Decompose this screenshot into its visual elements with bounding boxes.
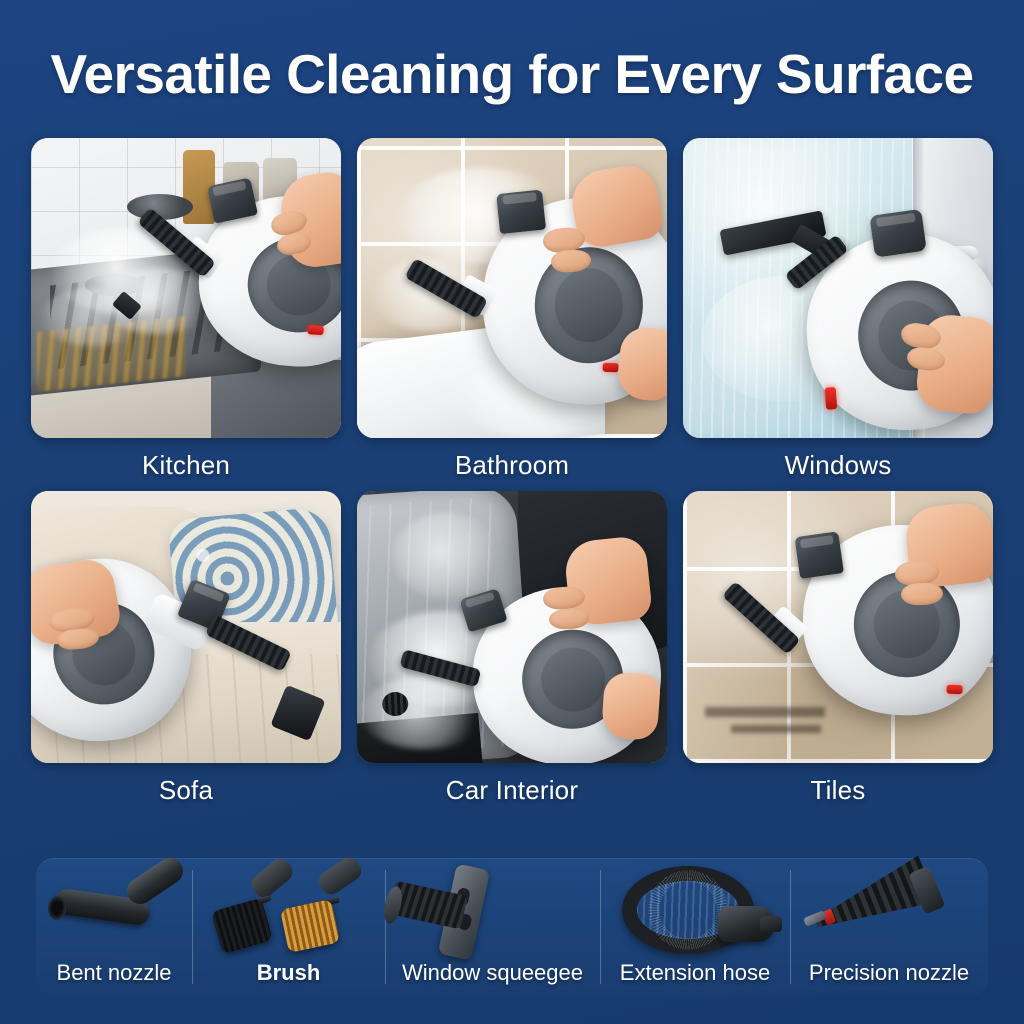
accessory-strip: Bent nozzle Brush Window squeegee: [36, 858, 988, 996]
steam-puff: [391, 513, 501, 599]
page-title: Versatile Cleaning for Every Surface: [0, 42, 1024, 106]
accessory-item-bent-nozzle[interactable]: Bent nozzle: [36, 858, 192, 996]
bent-nozzle-icon: [36, 858, 192, 962]
brush-neck: [247, 855, 296, 902]
bent-nozzle-elbow: [122, 853, 188, 909]
accessory-item-brush[interactable]: Brush: [192, 858, 385, 996]
kitchen-photo: [31, 138, 341, 438]
tile-caption: Car Interior: [357, 775, 667, 806]
windows-photo: [683, 138, 993, 438]
round-brush-icon: [192, 858, 385, 962]
steam-puff: [359, 677, 489, 749]
precision-nozzle-icon: [790, 858, 988, 962]
use-case-tile-kitchen[interactable]: Kitchen: [31, 138, 341, 481]
device-knob: [869, 209, 926, 258]
tiles-photo: [683, 491, 993, 763]
use-case-tile-bathroom[interactable]: Bathroom: [357, 138, 667, 481]
device-indicator-light: [603, 363, 619, 373]
tile-caption: Kitchen: [31, 450, 341, 481]
device-knob: [496, 189, 546, 234]
accessory-label: Precision nozzle: [809, 962, 969, 984]
hand-lower: [601, 671, 661, 741]
device-indicator-light: [307, 325, 324, 335]
use-case-tile-tiles[interactable]: Tiles: [683, 491, 993, 806]
bathroom-photo: [357, 138, 667, 438]
use-case-tile-sofa[interactable]: Sofa: [31, 491, 341, 806]
squeegee-icon: [385, 858, 600, 962]
device-knob: [795, 531, 844, 579]
extension-hose-icon: [600, 858, 790, 962]
accessory-item-precision-nozzle[interactable]: Precision nozzle: [790, 858, 988, 996]
brush-neck: [315, 854, 365, 899]
use-case-grid: Kitchen: [31, 138, 993, 806]
brush-head-nylon: [211, 898, 273, 955]
use-case-tile-car-interior[interactable]: Car Interior: [357, 491, 667, 806]
use-case-tile-windows[interactable]: Windows: [683, 138, 993, 481]
tile-caption: Windows: [683, 450, 993, 481]
tile-caption: Sofa: [31, 775, 341, 806]
infographic-canvas: Versatile Cleaning for Every Surface: [0, 0, 1024, 1024]
tile-caption: Tiles: [683, 775, 993, 806]
sofa-photo: [31, 491, 341, 763]
accessory-item-window-squeegee[interactable]: Window squeegee: [385, 858, 600, 996]
hose-tip: [760, 916, 782, 932]
accessory-label: Window squeegee: [402, 962, 583, 984]
grout-dirt: [731, 725, 821, 733]
accessory-label: Brush: [257, 962, 321, 984]
tile-caption: Bathroom: [357, 450, 667, 481]
accessory-label: Extension hose: [620, 962, 770, 984]
accessory-label: Bent nozzle: [57, 962, 172, 984]
device-indicator-light: [946, 685, 962, 695]
accessory-item-extension-hose[interactable]: Extension hose: [600, 858, 790, 996]
car-interior-photo: [357, 491, 667, 763]
brush-head-brass: [280, 899, 340, 953]
device-indicator-light: [825, 387, 838, 410]
